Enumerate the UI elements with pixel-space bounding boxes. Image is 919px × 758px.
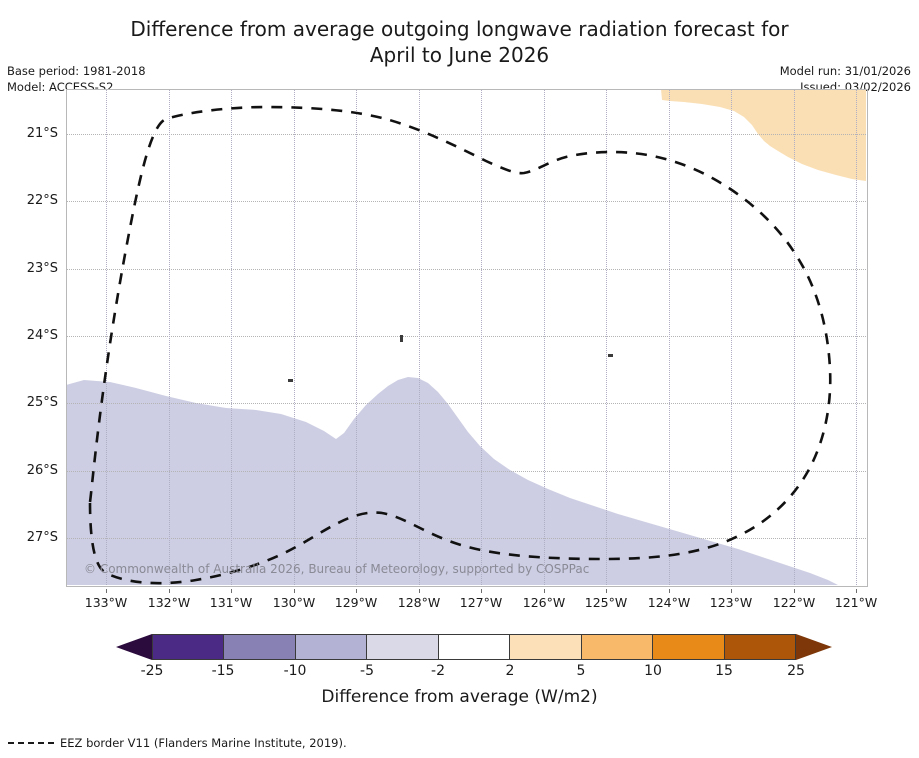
- page-title: Difference from average outgoing longwav…: [0, 16, 919, 68]
- colorbar-tick-label: 10: [618, 663, 688, 679]
- x-tick-label: 125°W: [571, 595, 641, 610]
- colorbar-segment: [438, 634, 509, 660]
- base-period-label: Base period: 1981-2018: [7, 63, 146, 79]
- footer-legend: EEZ border V11 (Flanders Marine Institut…: [8, 736, 347, 750]
- x-tick-label: 129°W: [321, 595, 391, 610]
- y-axis-labels: 21°S 22°S 23°S 24°S 25°S 26°S 27°S: [0, 89, 58, 585]
- dashed-line-icon: [8, 742, 54, 744]
- model-run-label: Model run: 31/01/2026: [780, 63, 911, 79]
- colorbar-segment: [152, 634, 223, 660]
- x-tick-label: 130°W: [259, 595, 329, 610]
- x-tick-label: 122°W: [759, 595, 829, 610]
- colorbar-extend-under: [116, 634, 152, 660]
- colorbar-tick-label: -10: [260, 663, 330, 679]
- colorbar-tick-label: -15: [188, 663, 258, 679]
- x-tick-label: 126°W: [509, 595, 579, 610]
- colorbar-tick-label: 15: [689, 663, 759, 679]
- x-tick-label: 127°W: [446, 595, 516, 610]
- copyright-watermark: © Commonwealth of Australia 2026, Bureau…: [84, 562, 589, 576]
- x-tick-label: 123°W: [696, 595, 766, 610]
- x-tick-label: 121°W: [821, 595, 891, 610]
- x-tick-label: 131°W: [196, 595, 266, 610]
- x-tick-label: 124°W: [634, 595, 704, 610]
- colorbar-segment: [366, 634, 437, 660]
- colorbar-segment: [295, 634, 366, 660]
- eez-border-overlay: [66, 89, 866, 585]
- island-marker: [288, 379, 293, 382]
- colorbar-segment: [724, 634, 796, 660]
- y-tick-label: 25°S: [2, 395, 58, 410]
- colorbar-tick-label: -2: [403, 663, 473, 679]
- colorbar-segment: [223, 634, 294, 660]
- title-line-1: Difference from average outgoing longwav…: [130, 17, 788, 41]
- y-tick-label: 27°S: [2, 530, 58, 545]
- y-tick-label: 23°S: [2, 261, 58, 276]
- colorbar: -25 -15 -10 -5 -2 2 5 10 15 25 Differenc…: [0, 630, 919, 700]
- colorbar-tick-label: -25: [117, 663, 187, 679]
- y-tick-label: 21°S: [2, 126, 58, 141]
- map-plot-area: © Commonwealth of Australia 2026, Bureau…: [66, 89, 866, 585]
- eez-border-path: [90, 107, 830, 583]
- x-tick-label: 133°W: [71, 595, 141, 610]
- x-tick-label: 128°W: [384, 595, 454, 610]
- colorbar-tick-label: 25: [761, 663, 831, 679]
- island-marker: [400, 335, 403, 342]
- y-tick-label: 26°S: [2, 463, 58, 478]
- colorbar-tick-label: 5: [546, 663, 616, 679]
- x-tick-label: 132°W: [134, 595, 204, 610]
- island-marker: [608, 354, 613, 357]
- colorbar-segment: [509, 634, 580, 660]
- colorbar-segment: [652, 634, 723, 660]
- colorbar-segment: [581, 634, 652, 660]
- colorbar-tick-label: -5: [332, 663, 402, 679]
- colorbar-tick-label: 2: [475, 663, 545, 679]
- colorbar-segments: [152, 634, 796, 660]
- x-axis-labels: 133°W 132°W 131°W 130°W 129°W 128°W 127°…: [66, 589, 866, 613]
- footer-legend-label: EEZ border V11 (Flanders Marine Institut…: [60, 736, 347, 750]
- y-tick-label: 22°S: [2, 193, 58, 208]
- y-tick-label: 24°S: [2, 328, 58, 343]
- colorbar-extend-over: [796, 634, 832, 660]
- figure-canvas: Difference from average outgoing longwav…: [0, 0, 919, 758]
- colorbar-title: Difference from average (W/m2): [0, 687, 919, 707]
